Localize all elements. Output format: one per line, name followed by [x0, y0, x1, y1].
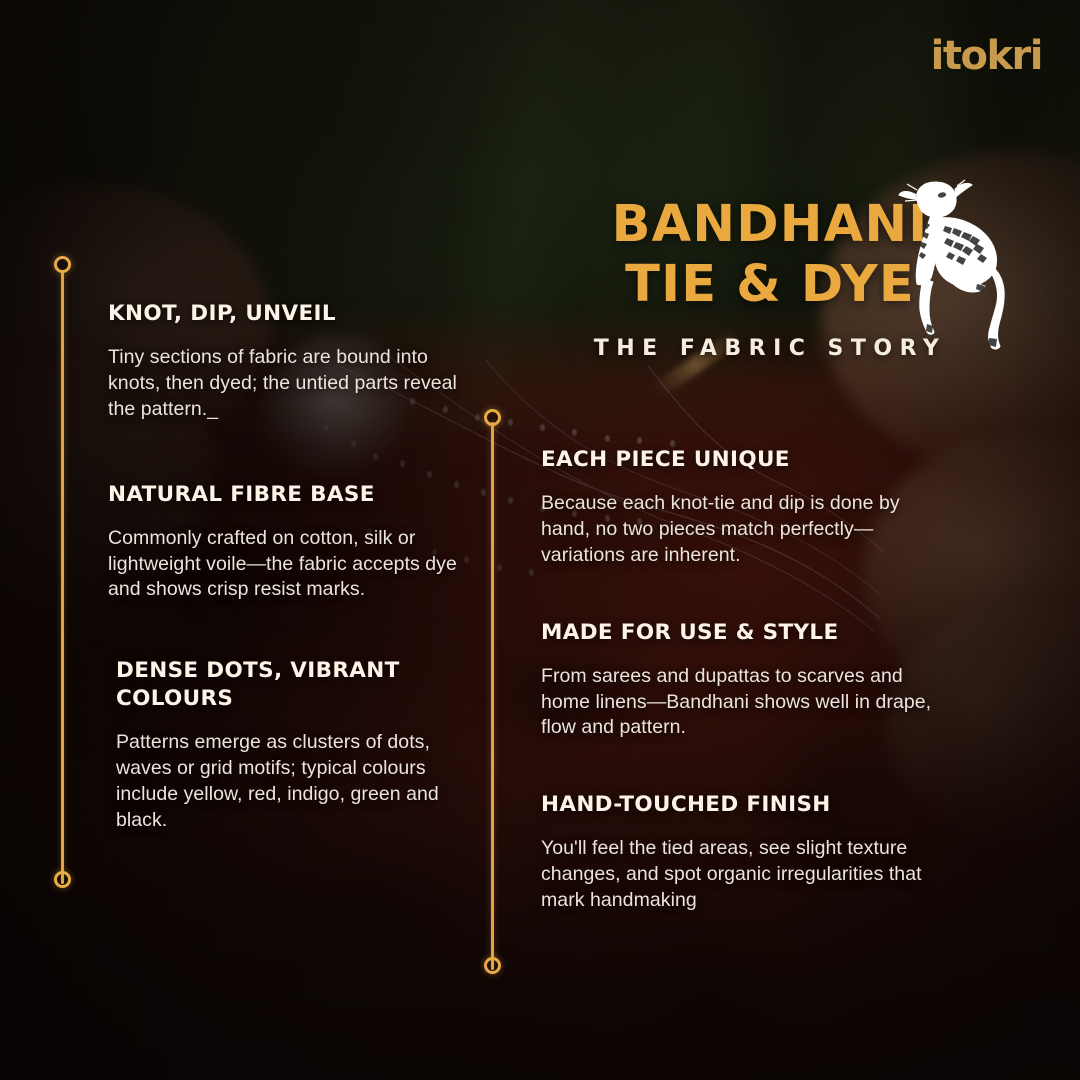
content-layer: itokri BANDHANI TIE & DYE THE FABRIC STO…	[0, 0, 1080, 1080]
right-column: EACH PIECE UNIQUE Because each knot-tie …	[541, 446, 945, 920]
left-item-2: NATURAL FIBRE BASE Commonly crafted on c…	[106, 481, 466, 604]
timeline-node-left-top	[54, 256, 71, 273]
left-spacer-2	[106, 609, 466, 657]
right-item-3-heading: HAND-TOUCHED FINISH	[541, 791, 945, 819]
timeline-rail-right	[491, 422, 494, 970]
timeline-node-right-top	[484, 409, 501, 426]
goat-sketch-icon	[893, 178, 1013, 356]
left-item-3-body: Patterns emerge as clusters of dots, wav…	[116, 730, 466, 834]
right-item-2-body: From sarees and dupattas to scarves and …	[541, 664, 945, 742]
infographic-canvas: itokri BANDHANI TIE & DYE THE FABRIC STO…	[0, 0, 1080, 1080]
right-item-2: MADE FOR USE & STYLE From sarees and dup…	[541, 619, 945, 742]
right-item-1-heading: EACH PIECE UNIQUE	[541, 446, 945, 474]
timeline-node-left-bottom	[54, 871, 71, 888]
timeline-rail-left	[61, 272, 64, 884]
left-item-1-body: Tiny sections of fabric are bound into k…	[108, 345, 466, 423]
left-item-3-heading: DENSE DOTS, VIBRANT COLOURS	[116, 657, 466, 713]
left-item-2-heading: NATURAL FIBRE BASE	[108, 481, 466, 509]
left-item-2-body: Commonly crafted on cotton, silk or ligh…	[108, 526, 466, 604]
left-item-1-heading: KNOT, DIP, UNVEIL	[108, 300, 466, 328]
right-spacer-2	[541, 747, 945, 791]
right-item-3: HAND-TOUCHED FINISH You'll feel the tied…	[541, 791, 945, 914]
right-item-1-body: Because each knot-tie and dip is done by…	[541, 491, 945, 569]
right-item-2-heading: MADE FOR USE & STYLE	[541, 619, 945, 647]
left-item-1: KNOT, DIP, UNVEIL Tiny sections of fabri…	[106, 300, 466, 423]
right-item-3-body: You'll feel the tied areas, see slight t…	[541, 836, 945, 914]
timeline-node-right-bottom	[484, 957, 501, 974]
right-spacer-1	[541, 575, 945, 619]
left-item-3: DENSE DOTS, VIBRANT COLOURS Patterns eme…	[106, 657, 466, 834]
left-column: KNOT, DIP, UNVEIL Tiny sections of fabri…	[106, 300, 466, 840]
right-item-1: EACH PIECE UNIQUE Because each knot-tie …	[541, 446, 945, 569]
brand-logo[interactable]: itokri	[931, 36, 1042, 76]
left-spacer-1	[106, 429, 466, 481]
